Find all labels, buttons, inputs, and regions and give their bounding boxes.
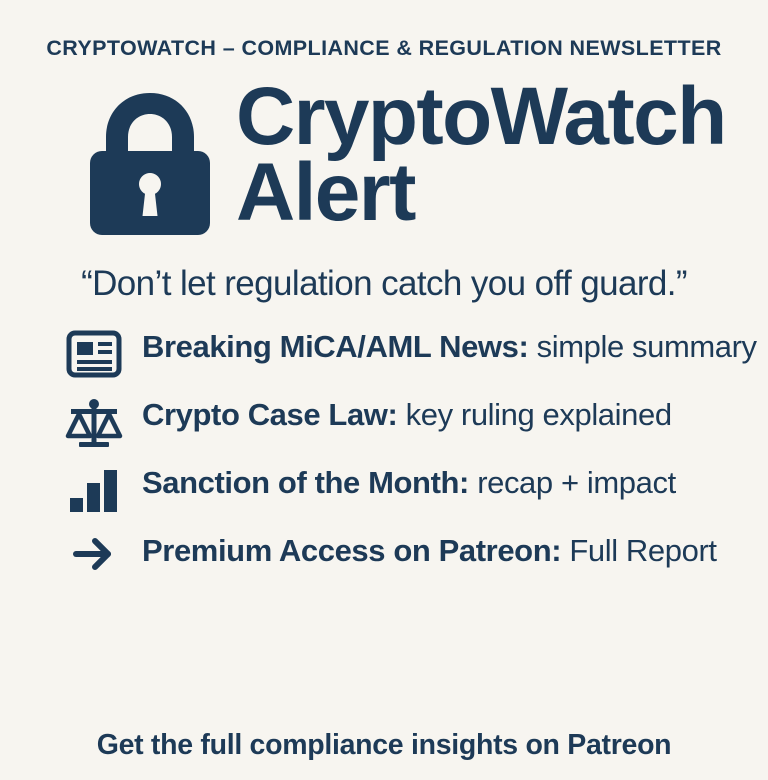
bar-chart-icon — [58, 462, 130, 516]
lock-icon — [80, 85, 220, 240]
list-item-text: Premium Access on Patreon: Full Report — [130, 530, 768, 571]
feature-list: Breaking MiCA/AML News: simple summary C… — [0, 326, 768, 598]
news-article-icon — [58, 326, 130, 380]
brand-title: CryptoWatch Alert — [236, 79, 726, 232]
arrow-right-icon — [58, 530, 130, 584]
list-item-text: Sanction of the Month: recap + impact — [130, 462, 768, 503]
list-item-text: Crypto Case Law: key ruling explained — [130, 394, 768, 435]
brand-lockup: CryptoWatch Alert — [34, 79, 734, 240]
list-item-title: Sanction of the Month: — [142, 465, 469, 500]
tagline: “Don’t let regulation catch you off guar… — [81, 264, 687, 304]
list-item-title: Breaking MiCA/AML News: — [142, 329, 528, 364]
list-item-detail: Full Report — [561, 533, 716, 568]
footer-cta: Get the full compliance insights on Patr… — [0, 729, 768, 762]
list-item-detail: recap + impact — [469, 465, 676, 500]
newsletter-poster: CRYPTOWATCH – COMPLIANCE & REGULATION NE… — [0, 0, 768, 780]
list-item: Premium Access on Patreon: Full Report — [58, 530, 768, 584]
list-item-title: Crypto Case Law: — [142, 397, 397, 432]
list-item: Sanction of the Month: recap + impact — [58, 462, 768, 516]
list-item-detail: simple summary — [528, 329, 756, 364]
list-item: Breaking MiCA/AML News: simple summary — [58, 326, 768, 380]
list-item-title: Premium Access on Patreon: — [142, 533, 561, 568]
list-item-detail: key ruling explained — [397, 397, 671, 432]
brand-title-line2: Alert — [236, 155, 726, 231]
list-item: Crypto Case Law: key ruling explained — [58, 394, 768, 448]
eyebrow-kicker: CRYPTOWATCH – COMPLIANCE & REGULATION NE… — [46, 36, 721, 61]
scales-of-justice-icon — [58, 394, 130, 448]
list-item-text: Breaking MiCA/AML News: simple summary — [130, 326, 768, 367]
